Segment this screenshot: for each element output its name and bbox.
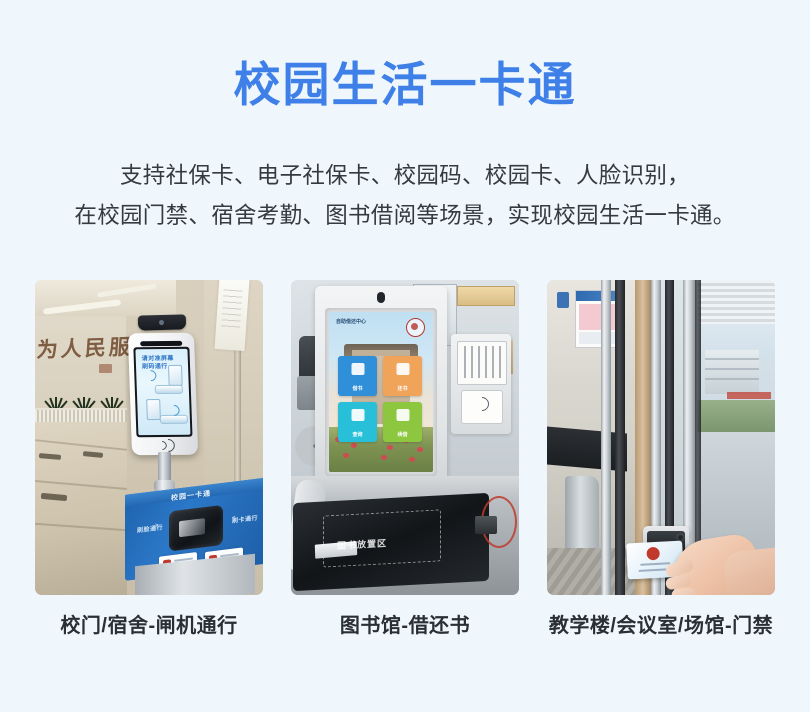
photo2-tile-borrow[interactable]: 借书 [338,356,377,396]
page-title: 校园生活一卡通 [0,56,810,114]
photo3-forearm [722,547,775,595]
photo1-gate-left-label: 刷脸通行 [137,522,163,534]
photo3-door-stile-dark-1 [615,280,625,595]
photo1-turnstile-qr-scanner [169,505,223,552]
photo2-book-placement-pad[interactable]: 图书放置区 [293,493,489,591]
photo3-ceiling-blinds [697,280,775,324]
scenario-card-access: 教学楼/会议室/场馆-门禁 [547,280,775,638]
photo1-terminal-nfc-icon [156,439,178,450]
photo1-wall-notice [215,280,250,351]
photo2-shelf-top [457,286,515,306]
photo-gate-turnstile: 为人民服务 [35,280,263,595]
caption-gate: 校门/宿舍-闸机通行 [35,609,263,638]
photo1-face-terminal: 请对准屏幕刷码通行 [128,333,198,456]
photo2-screen-title: 自助借还中心 [336,319,366,326]
photo3-reader-led-icon [678,535,683,540]
subtitle-line-1: 支持社保卡、电子社保卡、校园码、校园卡、人脸识别， [0,156,810,196]
photo2-tile-return-label: 还书 [383,386,422,392]
photo1-terminal-sensor-strip [140,341,182,346]
page-root: 校园生活一卡通 支持社保卡、电子社保卡、校园码、校园卡、人脸识别， 在校园门禁、… [0,0,810,712]
photo3-poster-footer [579,332,619,344]
photo1-floor [35,422,127,595]
scenario-card-library: ‹ [291,280,519,638]
photo3-building [705,350,759,394]
photo2-tile-renew[interactable]: 续借 [383,402,422,442]
photo1-terminal-camera-head [138,314,186,330]
photo2-tile-renew-label: 续借 [383,432,422,438]
photo2-kiosk-bezel: 自助借还中心 借书 还书 [325,308,437,476]
book-icon [351,363,364,375]
search-icon [351,409,364,421]
photo2-tile-borrow-label: 借书 [338,386,377,392]
photo3-mullion-1 [601,280,611,595]
photo1-gate-left-arrow-icon: > [155,523,159,529]
photo2-side-panel [451,334,511,434]
photo3-shrubbery [697,400,775,432]
photo1-wall-seal [99,364,112,373]
photo3-red-awning [727,392,771,399]
photo2-side-reader [475,516,497,534]
return-box-icon [396,363,409,375]
photo2-instruction-placard [457,341,507,385]
photo2-kiosk-screen: 自助借还中心 借书 还书 [329,312,433,472]
photo-door-access [547,280,775,595]
photo2-kiosk-body: 自助借还中心 借书 还书 [315,286,447,492]
scenario-card-gate: 为人民服务 [35,280,263,638]
caption-library: 图书馆-借还书 [291,609,519,638]
photo1-terminal-screen: 请对准屏幕刷码通行 [135,349,190,435]
photo3-poster-body [579,304,619,330]
renew-icon [396,409,409,421]
photo1-gate-right-arrow-icon: < [232,515,236,521]
photo2-card-reader-pad[interactable] [461,390,503,424]
caption-access: 教学楼/会议室/场馆-门禁 [547,609,775,638]
photo2-tile-return[interactable]: 还书 [383,356,422,396]
photo2-tile-search[interactable]: 查询 [338,402,377,442]
photo3-wall-sign-icon [557,292,569,308]
page-subtitle: 支持社保卡、电子社保卡、校园码、校园卡、人脸识别， 在校园门禁、宿舍考勤、图书借… [0,156,810,236]
subtitle-line-2: 在校园门禁、宿舍考勤、图书借阅等场景，实现校园生活一卡通。 [0,196,810,236]
photo3-card-emblem-icon [646,547,660,561]
photo2-screen-tile-grid: 借书 还书 查询 [338,356,422,442]
photo2-screen-emblem-icon [406,318,425,337]
photo2-kiosk-camera-icon [377,292,385,303]
scenario-card-row: 为人民服务 [35,280,775,638]
photo1-terminal-bezel: 请对准屏幕刷码通行 [133,347,192,437]
photo2-tile-search-label: 查询 [338,432,377,438]
photo2-pad-label: 图书放置区 [337,536,387,552]
photo-library-kiosk: ‹ [291,280,519,595]
